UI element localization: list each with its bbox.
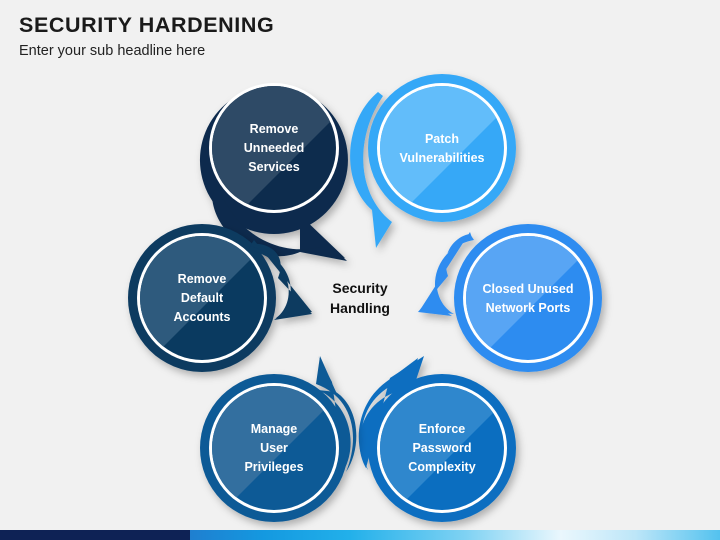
node-label-line: Vulnerabilities — [400, 151, 485, 165]
node-patch-vulnerabilities[interactable]: Patch Vulnerabilities — [350, 74, 516, 248]
node-enforce-password-complexity[interactable]: Enforce Password Complexity — [359, 356, 516, 522]
node-closed-unused-network-ports[interactable]: Closed Unused Network Ports — [418, 224, 602, 372]
node-label-line: Closed Unused — [483, 282, 574, 296]
node-label-line: Accounts — [174, 310, 231, 324]
node-label-line: Services — [248, 160, 299, 174]
node-label-line: Privileges — [244, 460, 303, 474]
slide-canvas: SECURITY HARDENING Enter your sub headli… — [0, 0, 720, 540]
node-label-line: Remove — [250, 122, 299, 136]
security-hardening-diagram: Remove Unneeded Services Patch Vulnerabi… — [0, 0, 720, 540]
footer-accent-bar — [0, 530, 720, 540]
node-label-line: Enforce — [419, 422, 466, 436]
node-label-line: Patch — [425, 132, 459, 146]
node-remove-default-accounts[interactable]: Remove Default Accounts — [128, 224, 312, 372]
node-label-line: User — [260, 441, 288, 455]
diagram-center-label: Security Handling — [330, 280, 390, 316]
node-label-line: Default — [181, 291, 224, 305]
node-label-line: Manage — [251, 422, 298, 436]
footer-bar-gradient-segment — [190, 530, 720, 540]
node-manage-user-privileges[interactable]: Manage User Privileges — [200, 356, 356, 522]
center-label-line2: Handling — [330, 300, 390, 316]
node-label-line: Remove — [178, 272, 227, 286]
node-label-line: Password — [412, 441, 471, 455]
node-label-line: Unneeded — [244, 141, 304, 155]
footer-bar-navy-segment — [0, 530, 190, 540]
center-label-line1: Security — [332, 280, 387, 296]
node-label-line: Network Ports — [486, 301, 571, 315]
node-label-line: Complexity — [408, 460, 475, 474]
